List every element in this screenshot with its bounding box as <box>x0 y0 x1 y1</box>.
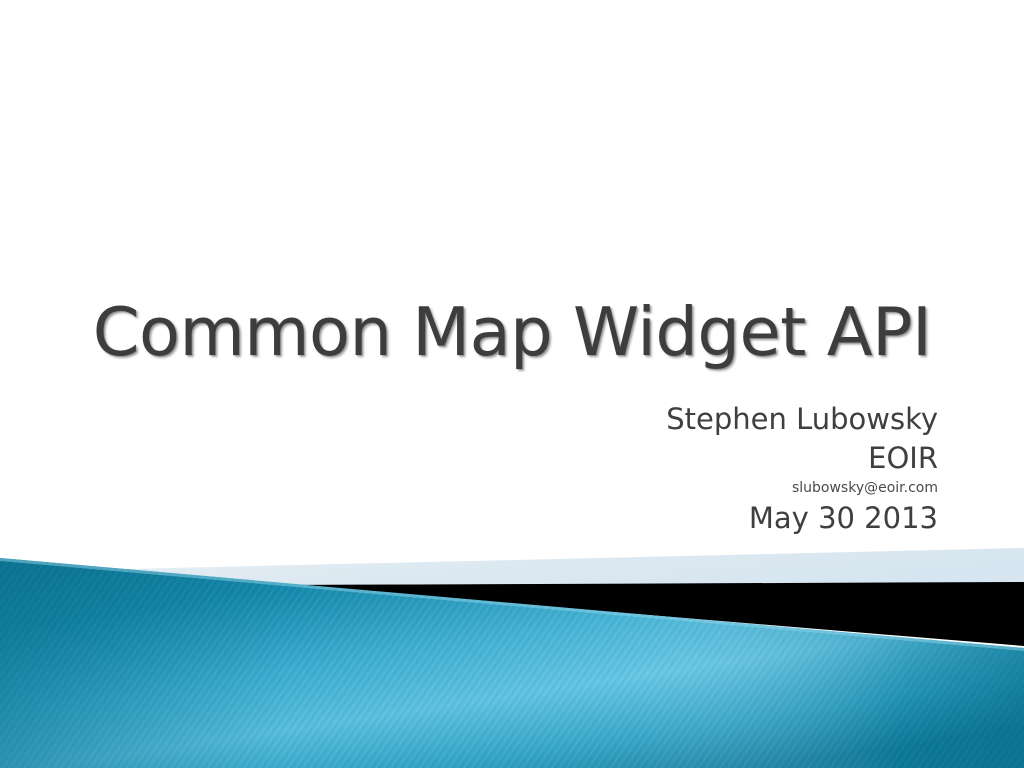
author-name: Stephen Lubowsky <box>400 400 938 439</box>
subtitle-block: Stephen Lubowsky EOIR slubowsky@eoir.com… <box>400 400 938 538</box>
banner-graphic <box>0 520 1024 768</box>
author-email: slubowsky@eoir.com <box>400 478 938 499</box>
title-block: Common Map Widget API <box>60 296 964 368</box>
decorative-banner <box>0 520 1024 768</box>
presentation-slide: Common Map Widget API Stephen Lubowsky E… <box>0 0 1024 768</box>
page-title: Common Map Widget API <box>60 296 964 368</box>
organization-name: EOIR <box>400 439 938 478</box>
